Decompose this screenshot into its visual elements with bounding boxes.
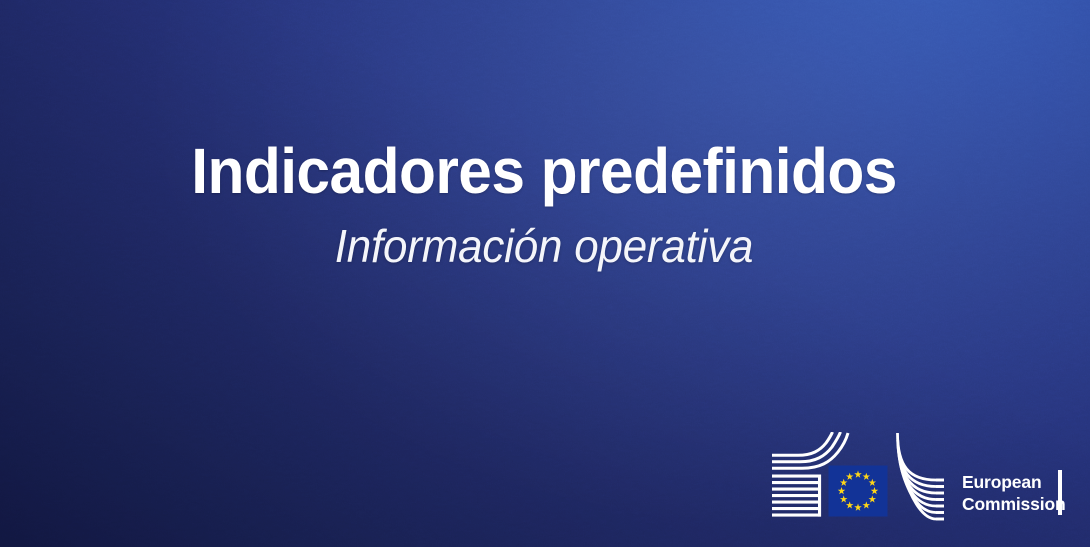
logo-left-stripes bbox=[772, 475, 821, 517]
title-block: Indicadores predefinidos Información ope… bbox=[0, 139, 1090, 269]
logo-text-line1: European bbox=[962, 472, 1042, 492]
slide-canvas: Indicadores predefinidos Información ope… bbox=[0, 0, 1090, 547]
slide-subtitle: Información operativa bbox=[24, 223, 1063, 269]
european-commission-logo: European Commission bbox=[768, 432, 1068, 527]
logo-text-line2: Commission bbox=[962, 494, 1066, 514]
eu-flag bbox=[829, 466, 888, 517]
slide-title: Indicadores predefinidos bbox=[30, 139, 1058, 203]
logo-left-curved-stripes bbox=[772, 432, 848, 468]
logo-divider-bar bbox=[1058, 470, 1062, 515]
logo-right-wing-fill bbox=[936, 479, 944, 521]
